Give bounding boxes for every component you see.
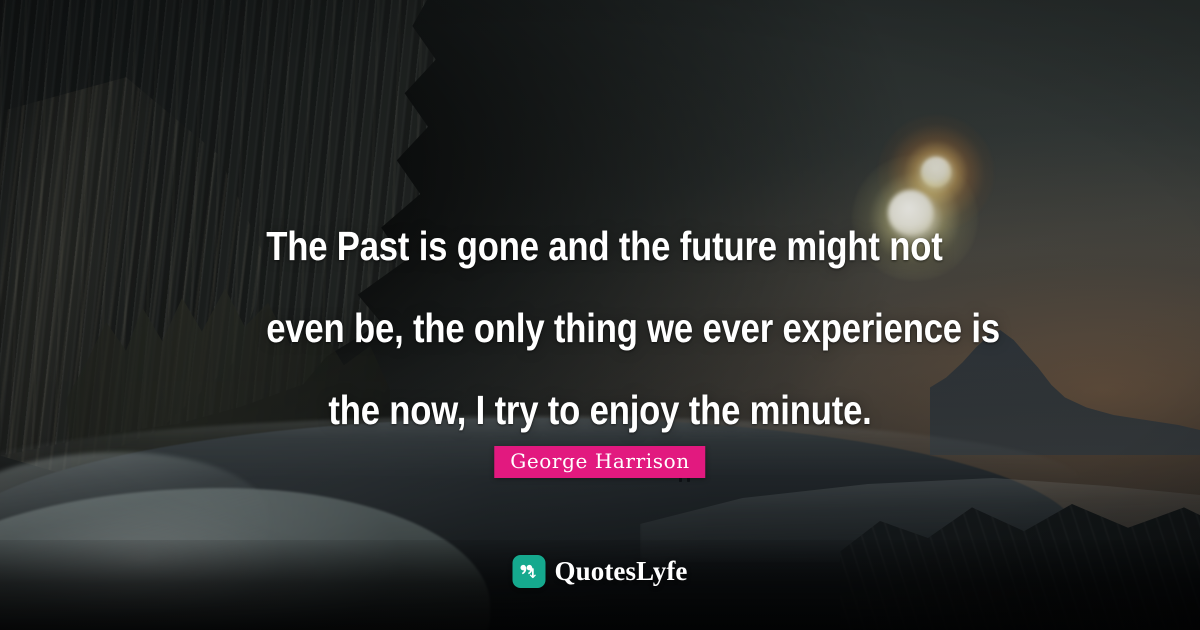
- brand-name: QuotesLyfe: [555, 556, 688, 587]
- quote-text: The Past is gone and the future might no…: [205, 205, 995, 451]
- quote-line-1: The Past is gone and the future might no…: [266, 205, 934, 287]
- quote-mark-icon: [513, 555, 546, 588]
- quote-image-canvas: The Past is gone and the future might no…: [0, 0, 1200, 630]
- brand-logo[interactable]: QuotesLyfe: [513, 555, 688, 588]
- overlay-content: The Past is gone and the future might no…: [0, 0, 1200, 630]
- quote-line-2: even be, the only thing we ever experien…: [266, 287, 934, 369]
- author-badge[interactable]: George Harrison: [494, 446, 705, 478]
- quote-line-3: the now, I try to enjoy the minute.: [266, 369, 934, 451]
